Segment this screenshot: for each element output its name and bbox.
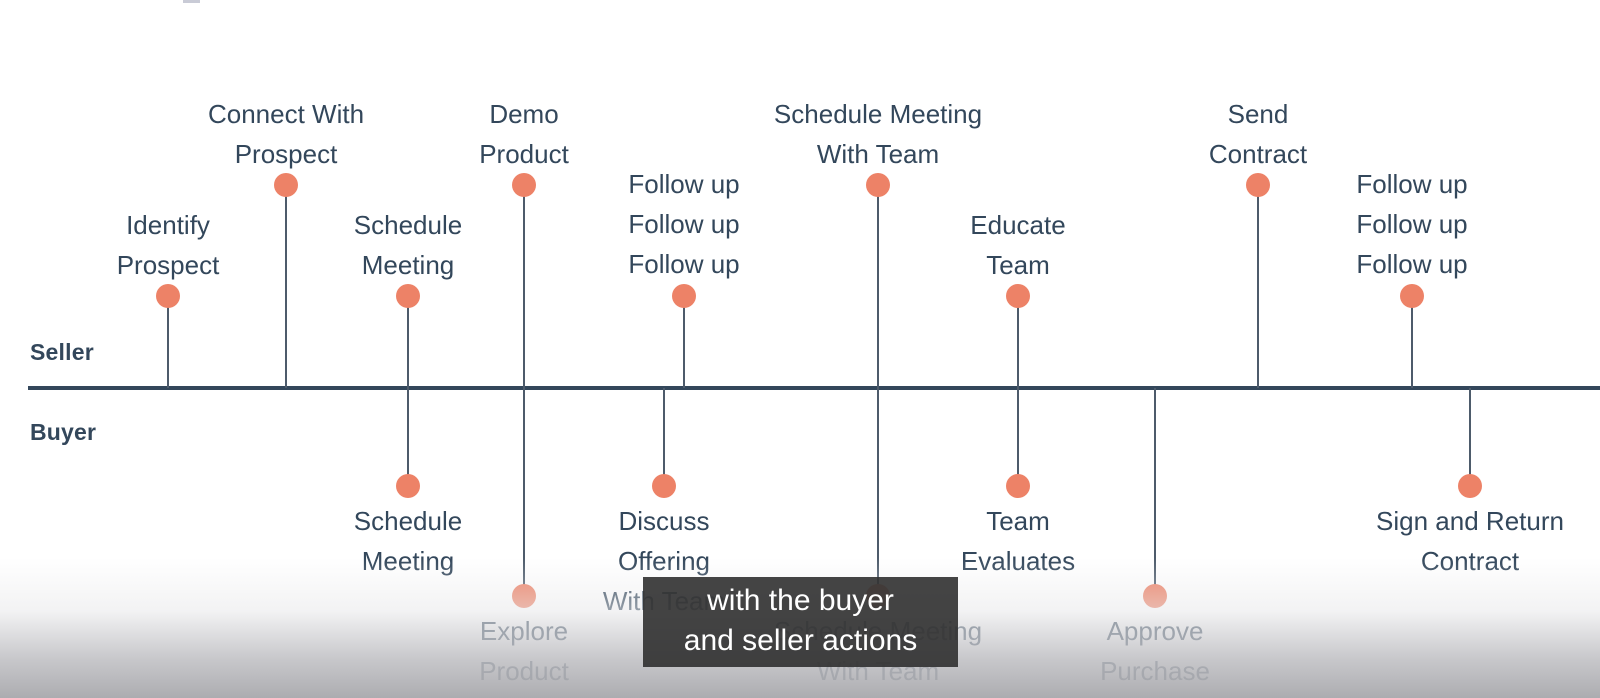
milestone-label: Schedule MeetingWith Team xyxy=(774,94,982,174)
milestone-dot xyxy=(866,173,890,197)
milestone-label-line: Explore xyxy=(479,611,569,651)
milestone-label-line: Follow up xyxy=(1356,204,1467,244)
milestone-dot xyxy=(156,284,180,308)
milestone-label-line: Follow up xyxy=(1356,164,1467,204)
milestone-label: Follow upFollow upFollow up xyxy=(1356,164,1467,284)
milestone-label-line: Schedule xyxy=(354,205,462,245)
milestone-stem xyxy=(1154,388,1157,586)
milestone-dot xyxy=(1006,284,1030,308)
milestone-label: EducateTeam xyxy=(970,205,1065,285)
milestone-label-line: Discuss xyxy=(603,501,725,541)
milestone-stem xyxy=(877,388,880,586)
milestone-stem xyxy=(683,306,686,388)
milestone-label-line: Follow up xyxy=(628,244,739,284)
milestone-label: ScheduleMeeting xyxy=(354,501,462,581)
milestone-label-line: Prospect xyxy=(208,134,364,174)
milestone-stem xyxy=(1017,306,1020,388)
milestone-label: ApprovePurchase xyxy=(1100,611,1210,691)
milestone-label: Sign and ReturnContract xyxy=(1376,501,1564,581)
milestone-label: TeamEvaluates xyxy=(961,501,1075,581)
milestone-label-line: Product xyxy=(479,651,569,691)
milestone-stem xyxy=(285,195,288,388)
milestone-label-line: Follow up xyxy=(628,204,739,244)
milestone-dot xyxy=(1006,474,1030,498)
milestone-dot xyxy=(1458,474,1482,498)
milestone-label: ScheduleMeeting xyxy=(354,205,462,285)
milestone-label-line: Meeting xyxy=(354,245,462,285)
milestone-dot xyxy=(396,474,420,498)
milestone-dot xyxy=(396,284,420,308)
milestone-label-line: Offering xyxy=(603,541,725,581)
lane-label-seller: Seller xyxy=(30,339,94,366)
milestone-label-line: Connect With xyxy=(208,94,364,134)
timeline-axis xyxy=(28,386,1600,390)
milestone-label-line: Educate xyxy=(970,205,1065,245)
milestone-label-line: Demo xyxy=(479,94,569,134)
milestone-label-line: Follow up xyxy=(628,164,739,204)
milestone-dot xyxy=(274,173,298,197)
milestone-label-line: Purchase xyxy=(1100,651,1210,691)
milestone-label-line: Schedule xyxy=(354,501,462,541)
milestone-label: SendContract xyxy=(1209,94,1307,174)
milestone-label-line: With Team xyxy=(774,134,982,174)
milestone-label-line: Contract xyxy=(1209,134,1307,174)
milestone-stem xyxy=(523,388,526,586)
video-caption: with the buyer and seller actions xyxy=(643,577,958,667)
milestone-label-line: Identify xyxy=(117,205,220,245)
milestone-stem xyxy=(523,195,526,388)
milestone-dot xyxy=(1143,584,1167,608)
milestone-label-line: Product xyxy=(479,134,569,174)
milestone-stem xyxy=(407,306,410,388)
milestone-label-line: Meeting xyxy=(354,541,462,581)
milestone-stem xyxy=(877,195,880,388)
milestone-dot xyxy=(512,584,536,608)
milestone-label-line: Team xyxy=(970,245,1065,285)
milestone-label-line: Approve xyxy=(1100,611,1210,651)
milestone-label: Follow upFollow upFollow up xyxy=(628,164,739,284)
clipped-top-fragment xyxy=(183,0,200,3)
milestone-label-line: Send xyxy=(1209,94,1307,134)
milestone-dot xyxy=(1400,284,1424,308)
milestone-label-line: Prospect xyxy=(117,245,220,285)
milestone-label-line: Sign and Return xyxy=(1376,501,1564,541)
caption-line-2: and seller actions xyxy=(643,621,958,661)
milestone-label: IdentifyProspect xyxy=(117,205,220,285)
milestone-label-line: Team xyxy=(961,501,1075,541)
milestone-label-line: Follow up xyxy=(1356,244,1467,284)
milestone-stem xyxy=(1017,388,1020,476)
milestone-dot xyxy=(672,284,696,308)
caption-line-1: with the buyer xyxy=(643,581,958,621)
milestone-label: DemoProduct xyxy=(479,94,569,174)
lane-label-buyer: Buyer xyxy=(30,419,96,446)
milestone-label: ExploreProduct xyxy=(479,611,569,691)
milestone-label-line: Contract xyxy=(1376,541,1564,581)
milestone-stem xyxy=(1411,306,1414,388)
milestone-label: Connect WithProspect xyxy=(208,94,364,174)
milestone-dot xyxy=(512,173,536,197)
milestone-dot xyxy=(1246,173,1270,197)
milestone-stem xyxy=(167,306,170,388)
milestone-dot xyxy=(652,474,676,498)
milestone-stem xyxy=(1469,388,1472,476)
milestone-stem xyxy=(1257,195,1260,388)
timeline-diagram: Seller Buyer IdentifyProspectConnect Wit… xyxy=(0,0,1600,698)
milestone-stem xyxy=(663,388,666,476)
milestone-label-line: Evaluates xyxy=(961,541,1075,581)
milestone-stem xyxy=(407,388,410,476)
milestone-label-line: Schedule Meeting xyxy=(774,94,982,134)
